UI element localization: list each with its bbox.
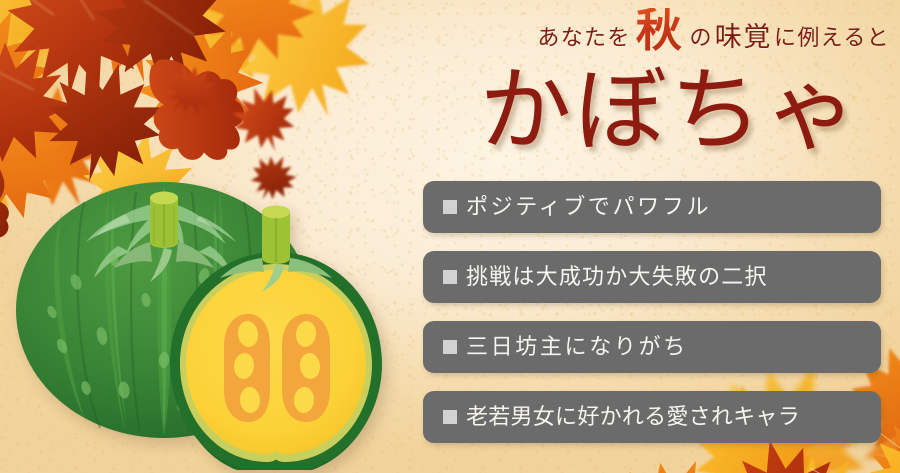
header-segment-4: 味覚 [715,24,772,54]
header-segment-5: に例えると [774,27,890,54]
header-segment-1: あなたを [537,27,630,54]
list-item-label: 老若男女に好かれる愛されキャラ [466,406,800,428]
list-item[interactable]: 老若男女に好かれる愛されキャラ [423,391,881,443]
header-kanji-aki: 秋 [636,8,685,54]
header-tagline: あなたを 秋 の 味覚 に例えると [505,6,890,54]
filled-square-bullet-icon [443,410,457,424]
page-title: かぼちゃ [455,58,885,163]
list-item-label: ポジティブでパワフル [466,196,711,218]
list-item[interactable]: 挑戦は大成功か大失敗の二択 [423,251,881,303]
filled-square-bullet-icon [443,270,457,284]
list-item-label: 挑戦は大成功か大失敗の二択 [466,266,768,288]
filled-square-bullet-icon [443,340,457,354]
kabocha-pumpkin-illustration [14,150,384,470]
list-item[interactable]: ポジティブでパワフル [423,181,881,233]
list-item[interactable]: 三日坊主になりがち [423,321,881,373]
filled-square-bullet-icon [443,200,457,214]
trait-list: ポジティブでパワフル 挑戦は大成功か大失敗の二択 三日坊主になりがち 老若男女に… [423,181,881,443]
list-item-label: 三日坊主になりがち [466,336,688,358]
header-segment-3: の [689,27,712,54]
poster-canvas: あなたを 秋 の 味覚 に例えると かぼちゃ ポジティブでパワフル 挑戦は大成功… [0,0,900,473]
